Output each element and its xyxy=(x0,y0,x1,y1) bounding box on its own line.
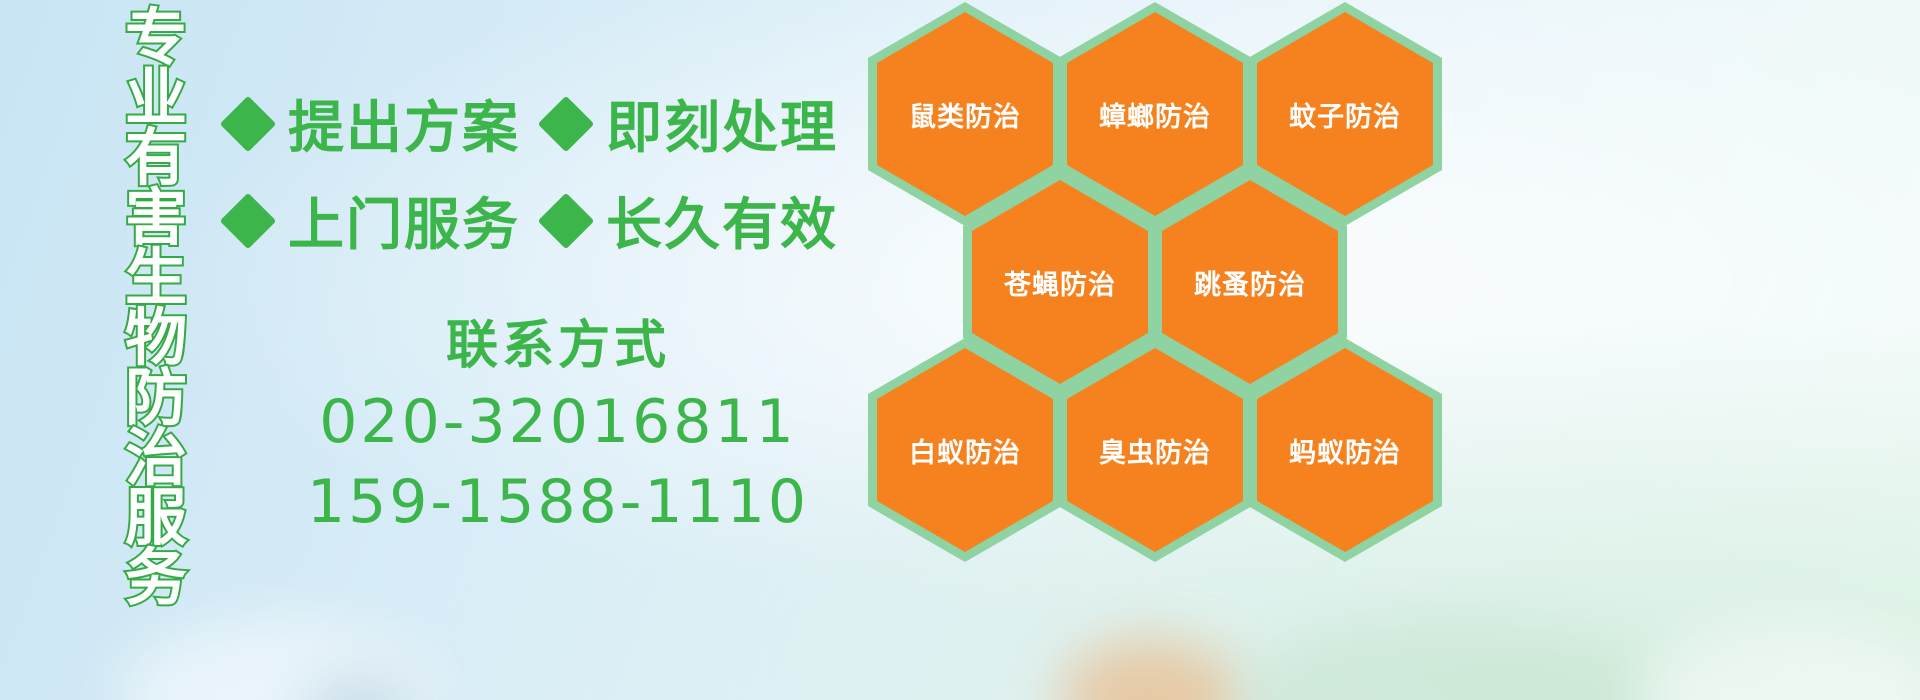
service-honeycomb: 鼠类防治 蟑螂防治 蚊子防治 苍蝇防治 跳蚤防治 白蚁防治 xyxy=(858,0,1458,552)
contact-phone-mobile[interactable]: 159-1588-1110 xyxy=(248,462,868,542)
hex-inner: 白蚁防治 xyxy=(877,348,1053,552)
vertical-slogan-char: 有 xyxy=(125,128,187,188)
hex-inner: 跳蚤防治 xyxy=(1162,180,1338,384)
feature-item-propose-plan: 提出方案 xyxy=(228,83,520,164)
service-label: 蚂蚁防治 xyxy=(1289,431,1401,470)
contact-phone-landline[interactable]: 020-32016811 xyxy=(248,382,868,462)
feature-label: 上门服务 xyxy=(288,180,520,261)
background-blur-blob xyxy=(1060,640,1240,700)
service-label: 跳蚤防治 xyxy=(1194,263,1306,302)
background-blur-blob xyxy=(120,620,440,700)
vertical-slogan-char: 专 xyxy=(125,8,187,68)
hex-inner: 蚂蚁防治 xyxy=(1257,348,1433,552)
contact-block: 联系方式 020-32016811 159-1588-1110 xyxy=(248,310,868,542)
feature-label: 即刻处理 xyxy=(606,83,838,164)
vertical-slogan-char: 防 xyxy=(125,368,187,428)
diamond-bullet-icon xyxy=(220,95,277,152)
feature-item-immediate-handling: 即刻处理 xyxy=(546,83,838,164)
feature-label: 长久有效 xyxy=(606,180,838,261)
vertical-slogan-char: 务 xyxy=(125,548,187,608)
feature-row: 上门服务 长久有效 xyxy=(228,172,868,269)
feature-row: 提出方案 即刻处理 xyxy=(228,75,868,172)
service-label: 蚊子防治 xyxy=(1289,95,1401,134)
service-label: 蟑螂防治 xyxy=(1099,95,1211,134)
vertical-slogan-char: 服 xyxy=(125,488,187,548)
vertical-slogan-char: 物 xyxy=(125,308,187,368)
service-label: 白蚁防治 xyxy=(909,431,1021,470)
service-label: 苍蝇防治 xyxy=(1004,263,1116,302)
vertical-slogan-char: 业 xyxy=(125,68,187,128)
vertical-slogan-char: 治 xyxy=(125,428,187,488)
diamond-bullet-icon xyxy=(220,192,277,249)
feature-list: 提出方案 即刻处理 上门服务 长久有效 xyxy=(228,75,868,269)
diamond-bullet-icon xyxy=(538,192,595,249)
background-blur-blob xyxy=(300,670,420,700)
hex-inner: 臭虫防治 xyxy=(1067,348,1243,552)
vertical-slogan: 专 业 有 害 生 物 防 治 服 务 xyxy=(100,8,212,568)
hex-inner: 蚊子防治 xyxy=(1257,12,1433,216)
diamond-bullet-icon xyxy=(538,95,595,152)
hex-inner: 苍蝇防治 xyxy=(972,180,1148,384)
hex-inner: 蟑螂防治 xyxy=(1067,12,1243,216)
feature-item-door-to-door-service: 上门服务 xyxy=(228,180,520,261)
vertical-slogan-char: 生 xyxy=(125,248,187,308)
service-label: 鼠类防治 xyxy=(909,95,1021,134)
pest-control-banner: 专 业 有 害 生 物 防 治 服 务 提出方案 即刻处理 上门服务 xyxy=(0,0,1920,700)
vertical-slogan-char: 害 xyxy=(125,188,187,248)
service-label: 臭虫防治 xyxy=(1099,431,1211,470)
hex-inner: 鼠类防治 xyxy=(877,12,1053,216)
feature-item-long-lasting-effect: 长久有效 xyxy=(546,180,838,261)
contact-title: 联系方式 xyxy=(248,310,868,382)
background-blur-blob xyxy=(1240,620,1660,700)
background-blur-blob xyxy=(1640,620,1920,700)
feature-label: 提出方案 xyxy=(288,83,520,164)
